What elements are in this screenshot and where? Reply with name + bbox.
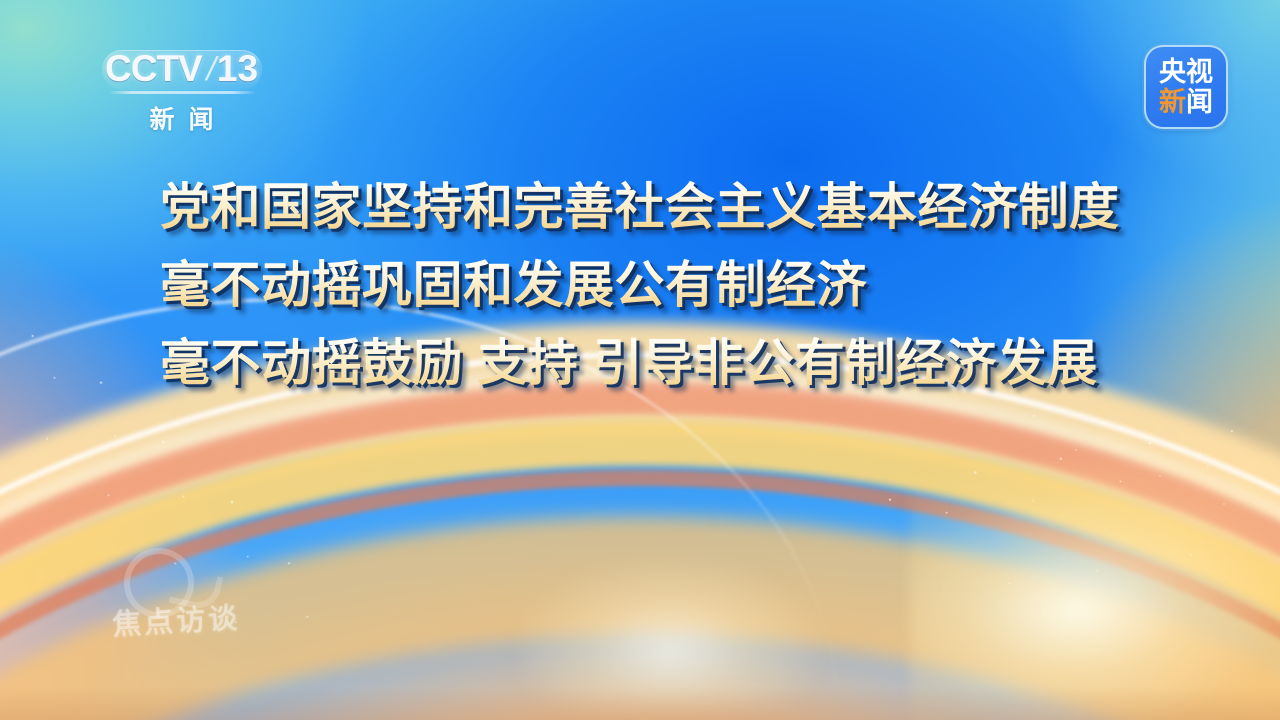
headline-block: 党和国家坚持和完善社会主义基本经济制度 毫不动摇巩固和发展公有制经济 毫不动摇鼓… <box>160 168 1160 402</box>
news-badge-line-1: 央视 <box>1159 59 1213 86</box>
broadcast-graphic: CCTV / 13 新闻 央视 新 闻 党和国家坚持和完善社会主义基本经济制度 … <box>0 0 1280 720</box>
cctv-news-badge: 央视 新 闻 <box>1144 45 1228 129</box>
program-watermark: 焦点访谈 <box>111 595 241 644</box>
cctv-logo-row: CCTV / 13 <box>94 48 269 90</box>
headline-line-3: 毫不动摇鼓励 支持 引导非公有制经济发展 <box>160 324 1160 402</box>
news-badge-text-yangshi: 央视 <box>1159 59 1213 86</box>
news-badge-text-wen: 闻 <box>1186 89 1213 116</box>
headline-line-2: 毫不动摇巩固和发展公有制经济 <box>160 246 1160 324</box>
bottom-edge-shade <box>0 686 1280 720</box>
news-badge-line-2: 新 闻 <box>1159 89 1213 116</box>
news-badge-text-xin: 新 <box>1159 89 1186 116</box>
headline-line-1: 党和国家坚持和完善社会主义基本经济制度 <box>160 168 1160 246</box>
cctv-logo-subtitle: 新闻 <box>94 100 269 136</box>
cctv-brand-text: CCTV <box>105 48 202 90</box>
light-hotspot-bottom-right <box>910 460 1280 720</box>
cctv-logo-underline <box>108 91 256 94</box>
cctv-13-logo: CCTV / 13 新闻 <box>94 48 269 136</box>
cctv-channel-number: 13 <box>217 48 258 90</box>
